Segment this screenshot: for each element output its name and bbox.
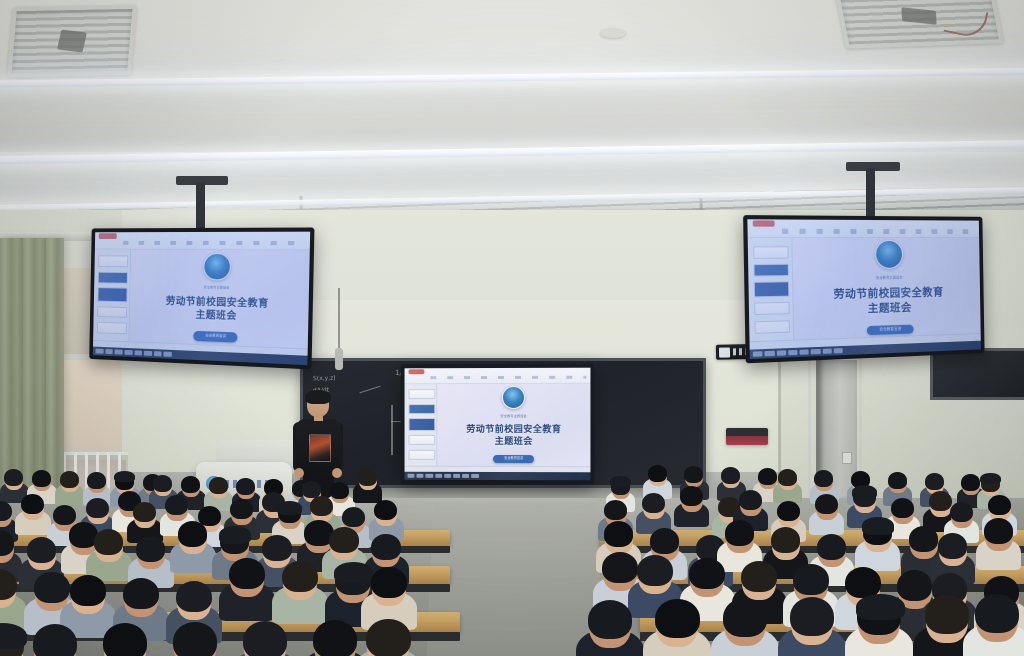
ppt-ribbon[interactable] — [405, 368, 591, 384]
taskbar-icon[interactable] — [776, 350, 786, 356]
audience-member — [681, 487, 703, 522]
emblem-caption: 安全教育主题班会 — [876, 274, 903, 279]
taskbar-icon[interactable] — [408, 474, 415, 478]
slide-stage: 安全教育主题班会 劳动节前校园安全教育 主题班会 安全教育宣讲 — [792, 238, 980, 339]
audience-hair — [4, 469, 23, 486]
slide-title-line1: 劳动节前校园安全教育 — [166, 295, 269, 311]
taskbar-icon[interactable] — [144, 351, 152, 356]
taskbar-icon[interactable] — [164, 352, 172, 357]
cap-icon — [114, 471, 135, 482]
classroom-scene: S(x,y,z) dA/dt 1/2 → E₀(t) B(r,t) ∮E·dl … — [0, 0, 1024, 656]
taskbar-icon[interactable] — [115, 349, 123, 354]
slide-thumbnail[interactable] — [408, 404, 435, 414]
right-tv-display[interactable]: 安全教育主题班会 劳动节前校园安全教育 主题班会 安全教育宣讲 — [743, 215, 985, 363]
audience-hair — [758, 468, 777, 485]
audience-member — [61, 472, 79, 501]
audience-member — [210, 478, 228, 507]
slide-thumbnail[interactable] — [98, 272, 127, 284]
audience-hair — [34, 572, 70, 603]
audience-hair — [181, 476, 200, 493]
slide-pill-label: 安全教育宣讲 — [493, 455, 534, 463]
slide-stage: 安全教育主题班会 劳动节前校园安全教育 主题班会 安全教育宣讲 — [438, 383, 591, 465]
audience-member — [104, 624, 146, 656]
slide-thumbnail[interactable] — [753, 264, 789, 277]
audience-hair — [236, 478, 255, 495]
audience-member — [779, 470, 797, 499]
emblem-caption: 安全教育主题班会 — [501, 414, 527, 418]
exterior-building — [56, 360, 122, 450]
audience-member — [791, 598, 833, 656]
audience-hair — [371, 534, 400, 560]
audience-member — [926, 596, 968, 656]
audience-member — [816, 495, 838, 530]
chalk-stroke — [391, 405, 393, 455]
audience-hair — [739, 490, 762, 510]
slide-title-line2: 主题班会 — [868, 301, 912, 317]
audience-hair — [925, 595, 969, 634]
tv-mount-arm — [196, 182, 205, 234]
audience-member — [230, 559, 264, 613]
audience-hair — [243, 621, 287, 656]
plaque-badge-icon — [719, 347, 730, 357]
audience-hair — [366, 619, 410, 656]
audience-hair — [178, 521, 207, 547]
audience-hair — [230, 499, 253, 519]
audience-hair — [21, 494, 44, 514]
audience-hair — [689, 558, 725, 589]
ppt-ribbon[interactable] — [747, 219, 979, 238]
slide-title-line2: 主题班会 — [195, 309, 236, 324]
audience-hair — [588, 600, 632, 639]
audience-hair — [637, 555, 673, 586]
audience-hair — [133, 502, 156, 522]
audience-member — [5, 470, 23, 499]
taskbar-icon[interactable] — [154, 351, 162, 356]
taskbar-icon[interactable] — [811, 349, 820, 355]
taskbar-icon[interactable] — [134, 350, 142, 355]
cap-icon — [856, 594, 904, 620]
audience-member — [244, 622, 286, 656]
slide-thumbnail[interactable] — [408, 389, 435, 399]
cap-icon — [852, 485, 877, 499]
audience-hair — [817, 534, 846, 560]
smartboard-display[interactable]: 安全教育主题班会 劳动节前校园安全教育 主题班会 安全教育宣讲 — [401, 364, 595, 485]
ppt-body: 安全教育主题班会 劳动节前校园安全教育 主题班会 安全教育宣讲 — [93, 249, 310, 348]
audience-hair — [33, 624, 77, 656]
school-emblem-icon — [502, 386, 525, 409]
ac-vent-icon — [7, 5, 137, 78]
audience-member — [314, 621, 356, 656]
taskbar-icon[interactable] — [96, 349, 104, 354]
audience-hair — [684, 466, 703, 483]
audience-member — [722, 468, 740, 497]
presentation-window: 安全教育主题班会 劳动节前校园安全教育 主题班会 安全教育宣讲 — [747, 219, 981, 359]
slide-pill-label: 安全教育宣讲 — [867, 324, 914, 335]
taskbar-icon[interactable] — [822, 348, 831, 354]
audience-hair — [909, 526, 938, 552]
audience-member — [726, 521, 754, 566]
slide-pill-label: 安全教育宣讲 — [194, 331, 238, 342]
audience-hair — [136, 536, 165, 562]
taskbar-icon[interactable] — [471, 474, 478, 478]
audience-hair — [374, 500, 397, 520]
presentation-window: 安全教育主题班会 劳动节前校园安全教育 主题班会 安全教育宣讲 — [405, 368, 591, 481]
audience-hair — [961, 474, 980, 491]
audience-hair — [310, 496, 333, 516]
slide-thumbnail[interactable] — [98, 306, 127, 318]
cap-icon — [277, 501, 302, 515]
audience-hair — [888, 472, 907, 489]
chalk-stroke — [359, 386, 380, 394]
audience-hair — [984, 518, 1013, 544]
slide-title-line1: 劳动节前校园安全教育 — [466, 423, 561, 435]
taskbar-icon[interactable] — [105, 349, 113, 354]
school-emblem-icon — [203, 253, 230, 281]
audience-hair — [282, 561, 318, 592]
audience-hair — [777, 501, 800, 521]
audience-member — [976, 595, 1018, 656]
audience-member — [279, 504, 301, 539]
audience-hair — [891, 498, 914, 518]
audience-hair — [604, 521, 633, 547]
emblem-caption: 安全教育主题班会 — [204, 285, 230, 290]
audience-hair — [721, 467, 740, 484]
audience-hair — [793, 564, 829, 595]
audience-hair — [262, 535, 291, 561]
audience-member — [134, 503, 156, 538]
audience-hair — [778, 469, 797, 486]
audience-hair — [604, 500, 627, 520]
pull-cord[interactable] — [338, 288, 340, 350]
cap-icon — [980, 473, 1001, 484]
audience-hair — [938, 533, 967, 559]
audience-hair — [229, 558, 265, 589]
audience-hair — [771, 527, 800, 553]
cap-icon — [219, 526, 251, 544]
presentation-window: 安全教育主题班会 劳动节前校园安全教育 主题班会 安全教育宣讲 — [93, 232, 310, 365]
audience-hair — [330, 482, 349, 499]
left-tv-display[interactable]: 安全教育主题班会 劳动节前校园安全教育 主题班会 安全教育宣讲 — [89, 227, 314, 369]
audience-member — [22, 495, 44, 530]
audience-hair — [723, 598, 767, 637]
audience-hair — [313, 620, 357, 656]
taskbar-icon[interactable] — [435, 474, 442, 478]
alarm-device[interactable] — [726, 428, 768, 445]
slide-thumbnail-panel[interactable] — [748, 238, 794, 341]
audience-member — [0, 570, 16, 624]
audience-hair — [642, 493, 665, 513]
taskbar-icon[interactable] — [462, 474, 469, 478]
door-sign — [842, 452, 852, 464]
taskbar-icon[interactable] — [753, 351, 763, 357]
slide-thumbnail[interactable] — [408, 435, 435, 445]
slide-title-line1: 劳动节前校园安全教育 — [834, 285, 944, 302]
taskbar-icon[interactable] — [426, 474, 433, 478]
smoke-detector-icon — [600, 28, 626, 38]
audience-hair — [87, 472, 106, 489]
audience-member — [656, 600, 698, 656]
presenter-hand — [332, 468, 342, 478]
audience-hair — [975, 594, 1019, 633]
audience-member — [643, 494, 665, 529]
taskbar-icon[interactable] — [417, 474, 424, 478]
cap-icon — [334, 562, 373, 583]
taskbar-icon[interactable] — [834, 348, 843, 354]
audience-hair — [173, 622, 217, 656]
audience-member — [34, 625, 76, 656]
audience-hair — [602, 552, 638, 583]
audience-member — [179, 522, 207, 567]
audience-member — [71, 576, 105, 630]
audience-member — [649, 466, 667, 495]
audience-hair — [929, 491, 952, 511]
audience-hair — [302, 481, 321, 498]
slide-thumbnail-panel[interactable] — [405, 384, 438, 466]
tv-mount-arm — [866, 168, 875, 220]
audience-hair — [725, 520, 754, 546]
audience-hair — [176, 581, 212, 612]
taskbar-icon[interactable] — [453, 474, 460, 478]
audience-member — [589, 601, 631, 656]
slide-thumbnail[interactable] — [99, 256, 128, 268]
audience-hair — [680, 486, 703, 506]
audience-member — [137, 537, 165, 582]
taskbar-icon[interactable] — [444, 474, 451, 478]
school-emblem-icon — [875, 240, 903, 269]
audience-hair — [371, 567, 407, 598]
audience-hair — [60, 471, 79, 488]
audience-hair — [103, 623, 147, 656]
slide-stage: 安全教育主题班会 劳动节前校园安全教育 主题班会 安全教育宣讲 — [129, 249, 310, 348]
taskbar-icon[interactable] — [765, 350, 775, 356]
audience-hair — [86, 498, 109, 518]
presenter-hair — [305, 390, 331, 404]
audience-hair — [165, 495, 188, 515]
audience-member — [283, 562, 317, 616]
audience-member — [858, 597, 900, 656]
tshirt-graphic — [309, 434, 331, 462]
ppt-body: 安全教育主题班会 劳动节前校园安全教育 主题班会 安全教育宣讲 — [405, 383, 591, 465]
right-wall-window — [930, 348, 1024, 400]
audience-hair — [153, 475, 172, 492]
audience-hair — [329, 527, 358, 553]
audience-hair — [814, 470, 833, 487]
audience-member — [724, 599, 766, 656]
taskbar-icon[interactable] — [788, 350, 798, 356]
audience-hair — [32, 470, 51, 487]
audience-member — [985, 519, 1013, 564]
audience-hair — [70, 575, 106, 606]
slide-thumbnail[interactable] — [753, 281, 789, 297]
slide-thumbnail-panel[interactable] — [93, 249, 131, 341]
cap-icon — [862, 517, 894, 535]
audience-member — [359, 470, 377, 499]
audience-member — [939, 534, 967, 579]
slide-thumbnail[interactable] — [753, 246, 789, 259]
taskbar-icon[interactable] — [124, 350, 132, 355]
audience-member — [367, 620, 409, 656]
audience-hair — [655, 599, 699, 638]
slide-thumbnail[interactable] — [98, 288, 127, 303]
audience-member — [372, 568, 406, 622]
taskbar-icon[interactable] — [800, 349, 809, 355]
slide-thumbnail[interactable] — [408, 450, 435, 460]
audience-hair — [925, 473, 944, 490]
audience-member — [864, 520, 892, 565]
chalk-note: S(x,y,z) — [313, 375, 336, 383]
audience-member — [375, 501, 397, 536]
slide-thumbnail[interactable] — [97, 322, 126, 334]
slide-thumbnail[interactable] — [408, 418, 435, 431]
audience-member — [95, 530, 123, 575]
audience-hair — [988, 495, 1011, 515]
slide-thumbnail[interactable] — [754, 302, 790, 316]
taskbar[interactable] — [405, 472, 591, 480]
audience-hair — [815, 494, 838, 514]
audience-hair — [209, 477, 228, 494]
audience-hair — [741, 561, 777, 592]
slide-thumbnail[interactable] — [754, 320, 790, 334]
audience-hair — [790, 597, 834, 636]
slide-title-line2: 主题班会 — [495, 435, 533, 447]
ppt-body: 安全教育主题班会 劳动节前校园安全教育 主题班会 安全教育宣讲 — [748, 238, 981, 341]
audience-hair — [950, 502, 973, 522]
presenter-hand — [294, 468, 304, 478]
audience-hair — [123, 578, 159, 609]
audience-hair — [342, 507, 365, 527]
cap-icon — [610, 476, 631, 487]
ppt-ribbon[interactable] — [95, 232, 310, 250]
audience-hair — [27, 537, 56, 563]
audience-member — [174, 623, 216, 656]
audience-hair — [94, 529, 123, 555]
audience-hair — [650, 528, 679, 554]
audience-hair — [648, 465, 667, 482]
audience-hair — [358, 469, 377, 486]
audience-member — [0, 626, 23, 656]
